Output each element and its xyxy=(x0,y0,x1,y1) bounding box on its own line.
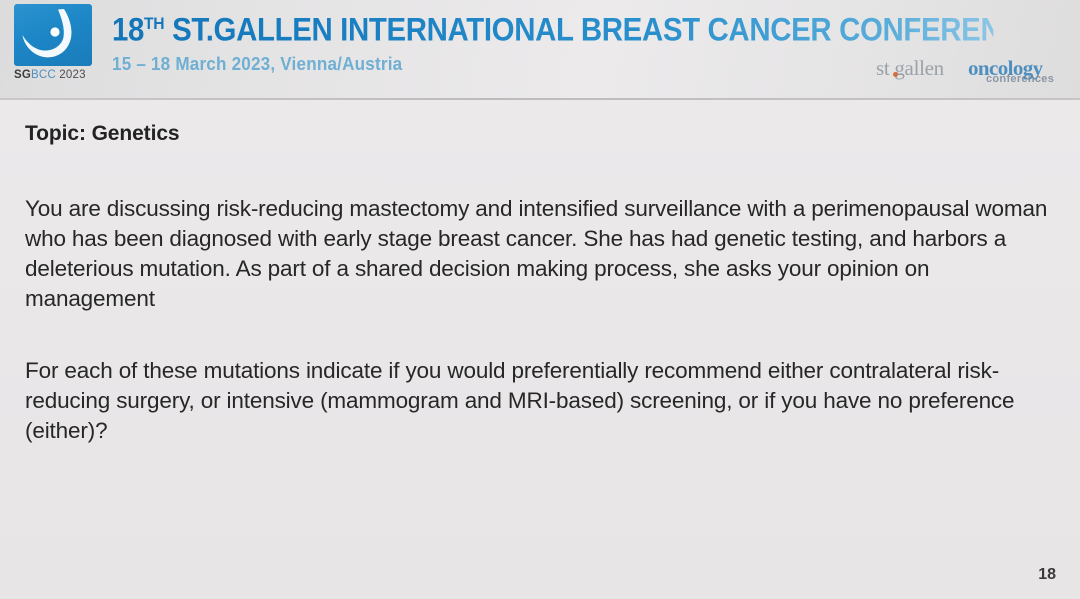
sgbcc-logo-block: SGBCC 2023 xyxy=(14,4,102,81)
droplet-swirl-icon xyxy=(14,4,92,66)
slide-body: Topic: Genetics You are discussing risk-… xyxy=(0,100,1080,599)
title-ordinal-suffix: TH xyxy=(144,14,164,33)
question-paragraph-scenario: You are discussing risk-reducing mastect… xyxy=(25,194,1056,314)
slide-topic-heading: Topic: Genetics xyxy=(25,122,1056,146)
st-gallen-oncology-conferences-logo: st gallen oncology conferences xyxy=(864,54,1064,92)
question-block: You are discussing risk-reducing mastect… xyxy=(25,194,1056,446)
slide-page-number: 18 xyxy=(1038,566,1056,584)
org-logo-conferences: conferences xyxy=(986,73,1054,85)
org-logo-stgallen: st gallen xyxy=(876,56,944,81)
title-main-text: ST.GALLEN INTERNATIONAL BREAST CANCER CO… xyxy=(164,12,1080,48)
conference-title: 18TH ST.GALLEN INTERNATIONAL BREAST CANC… xyxy=(112,4,993,50)
org-logo-dot-icon xyxy=(893,72,898,77)
sgbcc-droplet-logo xyxy=(14,4,92,66)
sgbcc-logo-caption: SGBCC 2023 xyxy=(14,69,102,81)
logo-caption-sg: SG xyxy=(14,69,31,81)
title-number: 18 xyxy=(112,12,144,48)
slide-header: SGBCC 2023 18TH ST.GALLEN INTERNATIONAL … xyxy=(0,0,1080,100)
presentation-slide: SGBCC 2023 18TH ST.GALLEN INTERNATIONAL … xyxy=(0,0,1080,599)
logo-caption-year: 2023 xyxy=(56,69,86,81)
logo-caption-bcc: BCC xyxy=(31,69,56,81)
question-paragraph-instruction: For each of these mutations indicate if … xyxy=(25,356,1056,446)
